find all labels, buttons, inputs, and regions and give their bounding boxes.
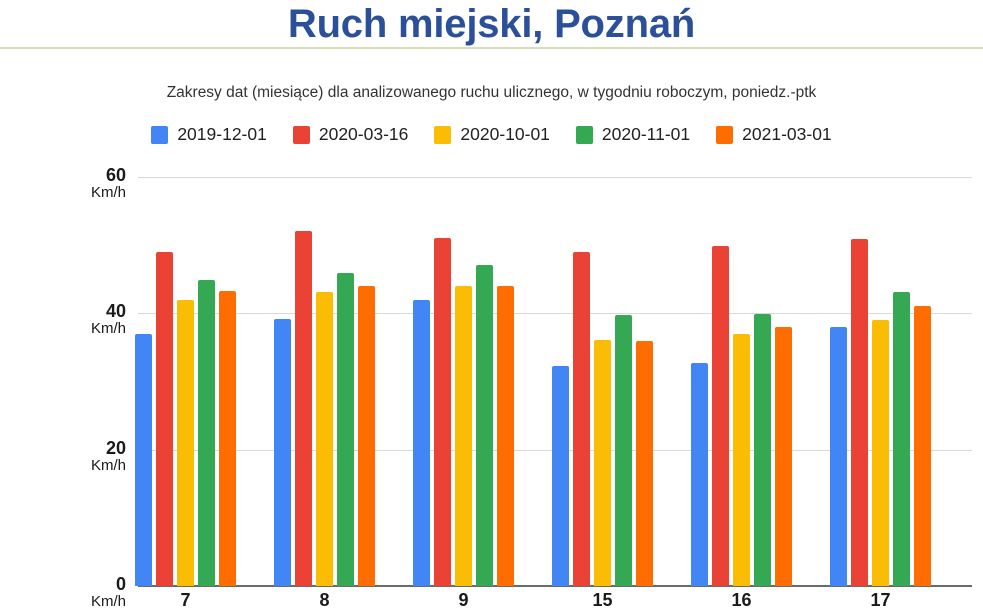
bar-2021-03-01-9[interactable]	[497, 286, 514, 586]
bar-2020-03-16-7[interactable]	[156, 252, 173, 586]
chart-legend: 2019-12-012020-03-162020-10-012020-11-01…	[0, 124, 983, 145]
legend-label: 2021-03-01	[742, 124, 832, 145]
legend-item-2021-03-01[interactable]: 2021-03-01	[716, 124, 832, 145]
x-axis-labels: 789151617	[138, 590, 972, 616]
bar-series-container	[138, 177, 972, 586]
legend-item-2020-10-01[interactable]: 2020-10-01	[434, 124, 550, 145]
bar-2021-03-01-15[interactable]	[636, 341, 653, 586]
x-axis-label-17: 17	[823, 590, 939, 611]
y-axis-tick-value: 20	[12, 439, 126, 457]
bar-group-9	[413, 177, 514, 586]
bar-2021-03-01-7[interactable]	[219, 291, 236, 586]
bar-2020-11-01-15[interactable]	[615, 315, 632, 586]
legend-item-2019-12-01[interactable]: 2019-12-01	[151, 124, 267, 145]
bar-2019-12-01-15[interactable]	[552, 366, 569, 586]
bar-2020-10-01-15[interactable]	[594, 340, 611, 586]
bar-group-15	[552, 177, 653, 586]
chart-subtitle: Zakresy dat (miesiące) dla analizowanego…	[0, 84, 983, 102]
bar-2021-03-01-16[interactable]	[775, 327, 792, 586]
bar-2020-10-01-8[interactable]	[316, 292, 333, 586]
y-axis-tick-value: 60	[12, 166, 126, 184]
legend-swatch-icon	[716, 126, 733, 144]
y-axis-tick-20: 20Km/h	[12, 439, 132, 474]
x-axis-label-8: 8	[267, 590, 383, 611]
bar-2020-11-01-8[interactable]	[337, 273, 354, 586]
bar-2020-03-16-17[interactable]	[851, 239, 868, 586]
y-axis-tick-unit: Km/h	[12, 184, 126, 201]
plot-area	[138, 177, 972, 586]
x-axis-label-16: 16	[684, 590, 800, 611]
bar-2019-12-01-8[interactable]	[274, 319, 291, 586]
bar-group-17	[830, 177, 931, 586]
y-axis-tick-unit: Km/h	[12, 593, 126, 610]
slide-canvas: Ruch miejski, Poznań Zakresy dat (miesią…	[0, 0, 983, 616]
x-axis-label-15: 15	[545, 590, 661, 611]
x-axis-label-7: 7	[128, 590, 244, 611]
y-axis-tick-unit: Km/h	[12, 320, 126, 337]
bar-group-7	[135, 177, 236, 586]
y-axis-tick-60: 60Km/h	[12, 166, 132, 201]
bar-2020-03-16-9[interactable]	[434, 238, 451, 586]
y-axis-tick-value: 0	[12, 575, 126, 593]
bar-2020-11-01-9[interactable]	[476, 265, 493, 586]
y-axis-tick-unit: Km/h	[12, 457, 126, 474]
bar-2020-11-01-7[interactable]	[198, 280, 215, 586]
legend-swatch-icon	[576, 126, 593, 144]
bar-2020-03-16-16[interactable]	[712, 246, 729, 586]
legend-item-2020-11-01[interactable]: 2020-11-01	[576, 124, 690, 145]
legend-label: 2019-12-01	[177, 124, 267, 145]
bar-2020-10-01-17[interactable]	[872, 320, 889, 586]
bar-2020-10-01-16[interactable]	[733, 334, 750, 586]
page-title: Ruch miejski, Poznań	[0, 0, 983, 48]
bar-2020-10-01-7[interactable]	[177, 300, 194, 586]
y-axis-ticks: 0Km/h20Km/h40Km/h60Km/h	[8, 177, 132, 586]
bar-2019-12-01-9[interactable]	[413, 300, 430, 586]
bar-2020-03-16-15[interactable]	[573, 252, 590, 586]
bar-2020-11-01-16[interactable]	[754, 314, 771, 586]
y-axis-tick-value: 40	[12, 302, 126, 320]
legend-item-2020-03-16[interactable]: 2020-03-16	[293, 124, 409, 145]
bar-2021-03-01-17[interactable]	[914, 306, 931, 586]
legend-swatch-icon	[151, 126, 168, 144]
bar-group-16	[691, 177, 792, 586]
y-axis-tick-0: 0Km/h	[12, 575, 132, 610]
legend-swatch-icon	[434, 126, 451, 144]
legend-label: 2020-10-01	[460, 124, 550, 145]
bar-2020-11-01-17[interactable]	[893, 292, 910, 586]
legend-label: 2020-03-16	[319, 124, 409, 145]
legend-label: 2020-11-01	[602, 124, 690, 145]
bar-2021-03-01-8[interactable]	[358, 286, 375, 586]
bar-2019-12-01-17[interactable]	[830, 327, 847, 586]
legend-swatch-icon	[293, 126, 310, 144]
bar-2019-12-01-16[interactable]	[691, 363, 708, 586]
x-axis-label-9: 9	[406, 590, 522, 611]
title-divider	[0, 47, 983, 49]
bar-group-8	[274, 177, 375, 586]
bar-2020-03-16-8[interactable]	[295, 231, 312, 586]
bar-2019-12-01-7[interactable]	[135, 334, 152, 586]
bar-2020-10-01-9[interactable]	[455, 286, 472, 586]
y-axis-tick-40: 40Km/h	[12, 302, 132, 337]
